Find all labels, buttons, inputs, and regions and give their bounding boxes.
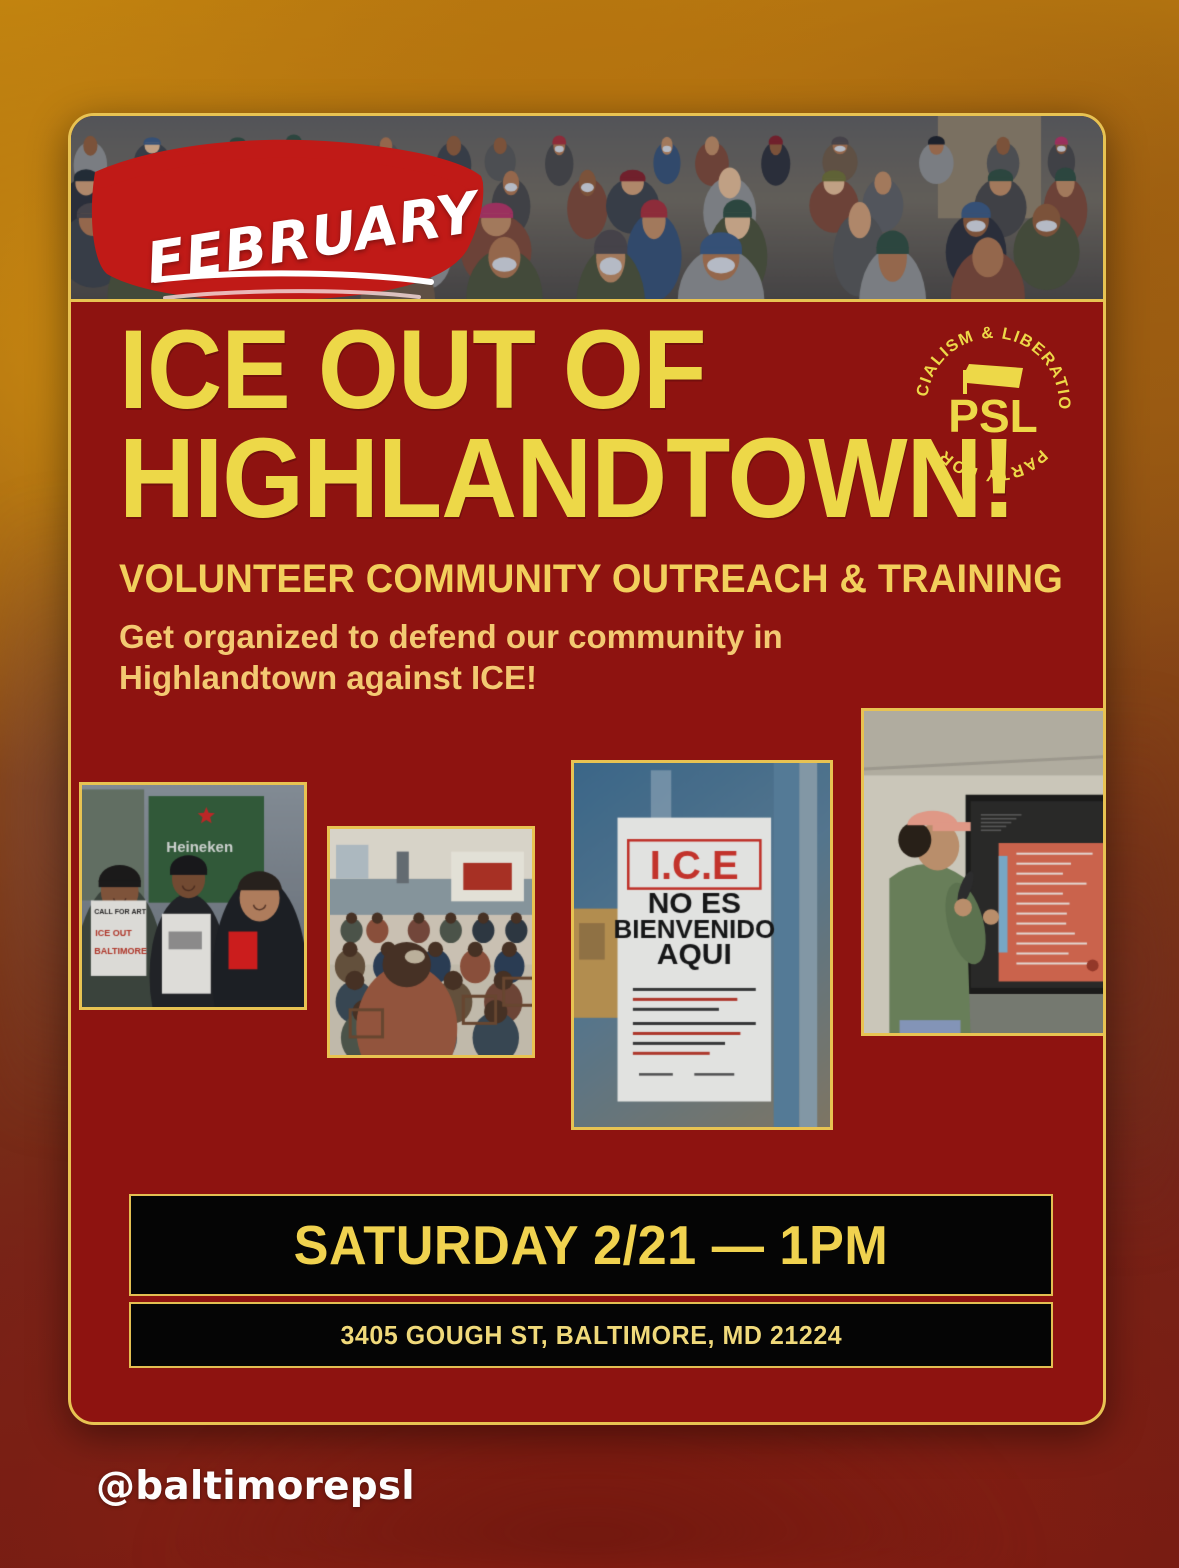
headline-block: ICE OUT OF HIGHLANDTOWN! SOCIALISM & LIB… [71, 302, 1103, 531]
social-handle: @baltimorepsl [96, 1464, 415, 1509]
photo-ice-poster [571, 760, 833, 1130]
month-badge: FEBRUARY [89, 128, 489, 302]
photo-collage [71, 704, 1103, 1134]
photo-speaker-presentation [861, 708, 1106, 1036]
photo-street-outreach [79, 782, 307, 1010]
blurb-text: Get organized to defend our community in… [119, 616, 799, 699]
info-bars: SATURDAY 2/21 — 1PM 3405 GOUGH ST, BALTI… [129, 1194, 1053, 1368]
photo-community-meeting [327, 826, 535, 1058]
photo-crowd-header: FEBRUARY [71, 116, 1103, 302]
psl-center-text: PSL [948, 390, 1037, 442]
blurb-line-1: Get organized to defend our community in [119, 616, 799, 657]
subheading: VOLUNTEER COMMUNITY OUTREACH & TRAINING [119, 557, 1054, 602]
address-bar: 3405 GOUGH ST, BALTIMORE, MD 21224 [129, 1302, 1053, 1368]
svg-text:PARTY FOR: PARTY FOR [935, 446, 1051, 484]
address-text: 3405 GOUGH ST, BALTIMORE, MD 21224 [340, 1320, 842, 1351]
psl-logo: SOCIALISM & LIBERATION PARTY FOR PSL [909, 320, 1077, 488]
blurb-line-2: Highlandtown against ICE! [119, 657, 799, 698]
date-bar: SATURDAY 2/21 — 1PM [129, 1194, 1053, 1296]
psl-arc-bottom: PARTY FOR [935, 446, 1051, 484]
headline-line-1: ICE OUT OF [119, 318, 1034, 421]
event-flyer: FEBRUARY ICE OUT OF HIGHLANDTOWN! SOCIAL… [68, 113, 1106, 1425]
headline-line-2: HIGHLANDTOWN! [119, 427, 1034, 531]
date-text: SATURDAY 2/21 — 1PM [294, 1213, 889, 1277]
